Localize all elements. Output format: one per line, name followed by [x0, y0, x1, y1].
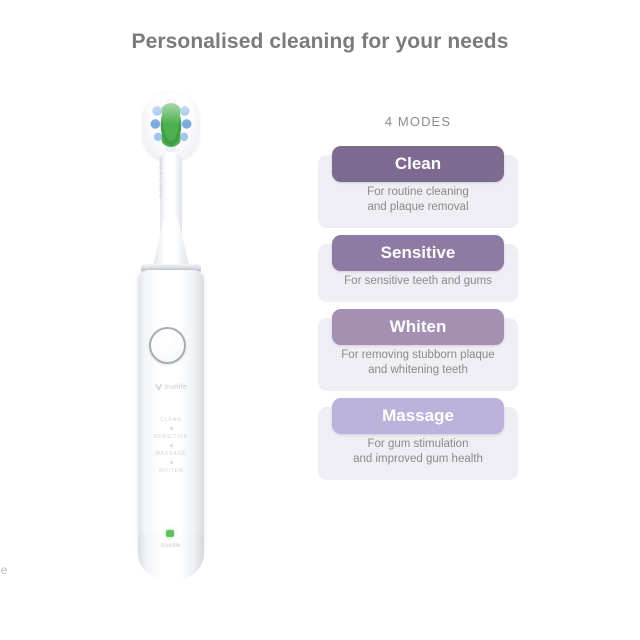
handle-mode-led-3 — [170, 461, 173, 464]
mode-label-massage: Massage — [332, 398, 504, 434]
mode-label-whiten: Whiten — [332, 309, 504, 345]
battery-led-indicator — [166, 530, 174, 537]
modes-heading: 4 MODES — [318, 114, 518, 129]
mode-label-clean: Clean — [332, 146, 504, 182]
corner-text-fragment: ue — [0, 563, 7, 577]
handle-mode-indicator-list: CLEAN SENSITIVE MASSAGE WHITEN — [138, 416, 204, 475]
mode-card-sensitive[interactable]: Sensitive For sensitive teeth and gums — [318, 244, 518, 302]
brush-neck-flare — [153, 218, 189, 266]
handle-mode-led-1 — [170, 427, 173, 430]
infographic-page: Personalised cleaning for your needs tru… — [0, 0, 640, 640]
mode-description-massage: For gum stimulation and improved gum hea… — [326, 437, 510, 467]
modes-list: Clean For routine cleaning and plaque re… — [318, 155, 518, 496]
handle-mode-clean: CLEAN — [138, 416, 204, 424]
brand-name-label: truelife — [164, 384, 187, 391]
base-brand-label: truelife — [138, 543, 204, 549]
mode-card-whiten[interactable]: Whiten For removing stubborn plaque and … — [318, 318, 518, 391]
handle-mode-sensitive: SENSITIVE — [138, 433, 204, 441]
mode-description-clean: For routine cleaning and plaque removal — [326, 185, 510, 215]
brush-handle — [138, 270, 204, 560]
mode-description-sensitive: For sensitive teeth and gums — [326, 274, 510, 289]
bristles-center — [160, 103, 182, 147]
brand-mark-icon — [155, 384, 162, 391]
mode-description-whiten: For removing stubborn plaque and whiteni… — [320, 348, 516, 378]
neck-brand-label: truelife SonicBrush — [158, 164, 163, 198]
handle-mode-whiten: WHITEN — [138, 467, 204, 475]
brush-handle-base — [138, 533, 204, 579]
handle-mode-led-2 — [170, 444, 173, 447]
mode-card-clean[interactable]: Clean For routine cleaning and plaque re… — [318, 155, 518, 228]
product-image: truelife SonicBrush truelife CLEAN SENSI… — [96, 78, 246, 578]
mode-label-sensitive: Sensitive — [332, 235, 504, 271]
power-button[interactable] — [149, 327, 186, 364]
mode-card-massage[interactable]: Massage For gum stimulation and improved… — [318, 407, 518, 480]
handle-brand-logo: truelife — [142, 384, 200, 391]
page-title: Personalised cleaning for your needs — [0, 30, 640, 54]
handle-mode-massage: MASSAGE — [138, 450, 204, 458]
